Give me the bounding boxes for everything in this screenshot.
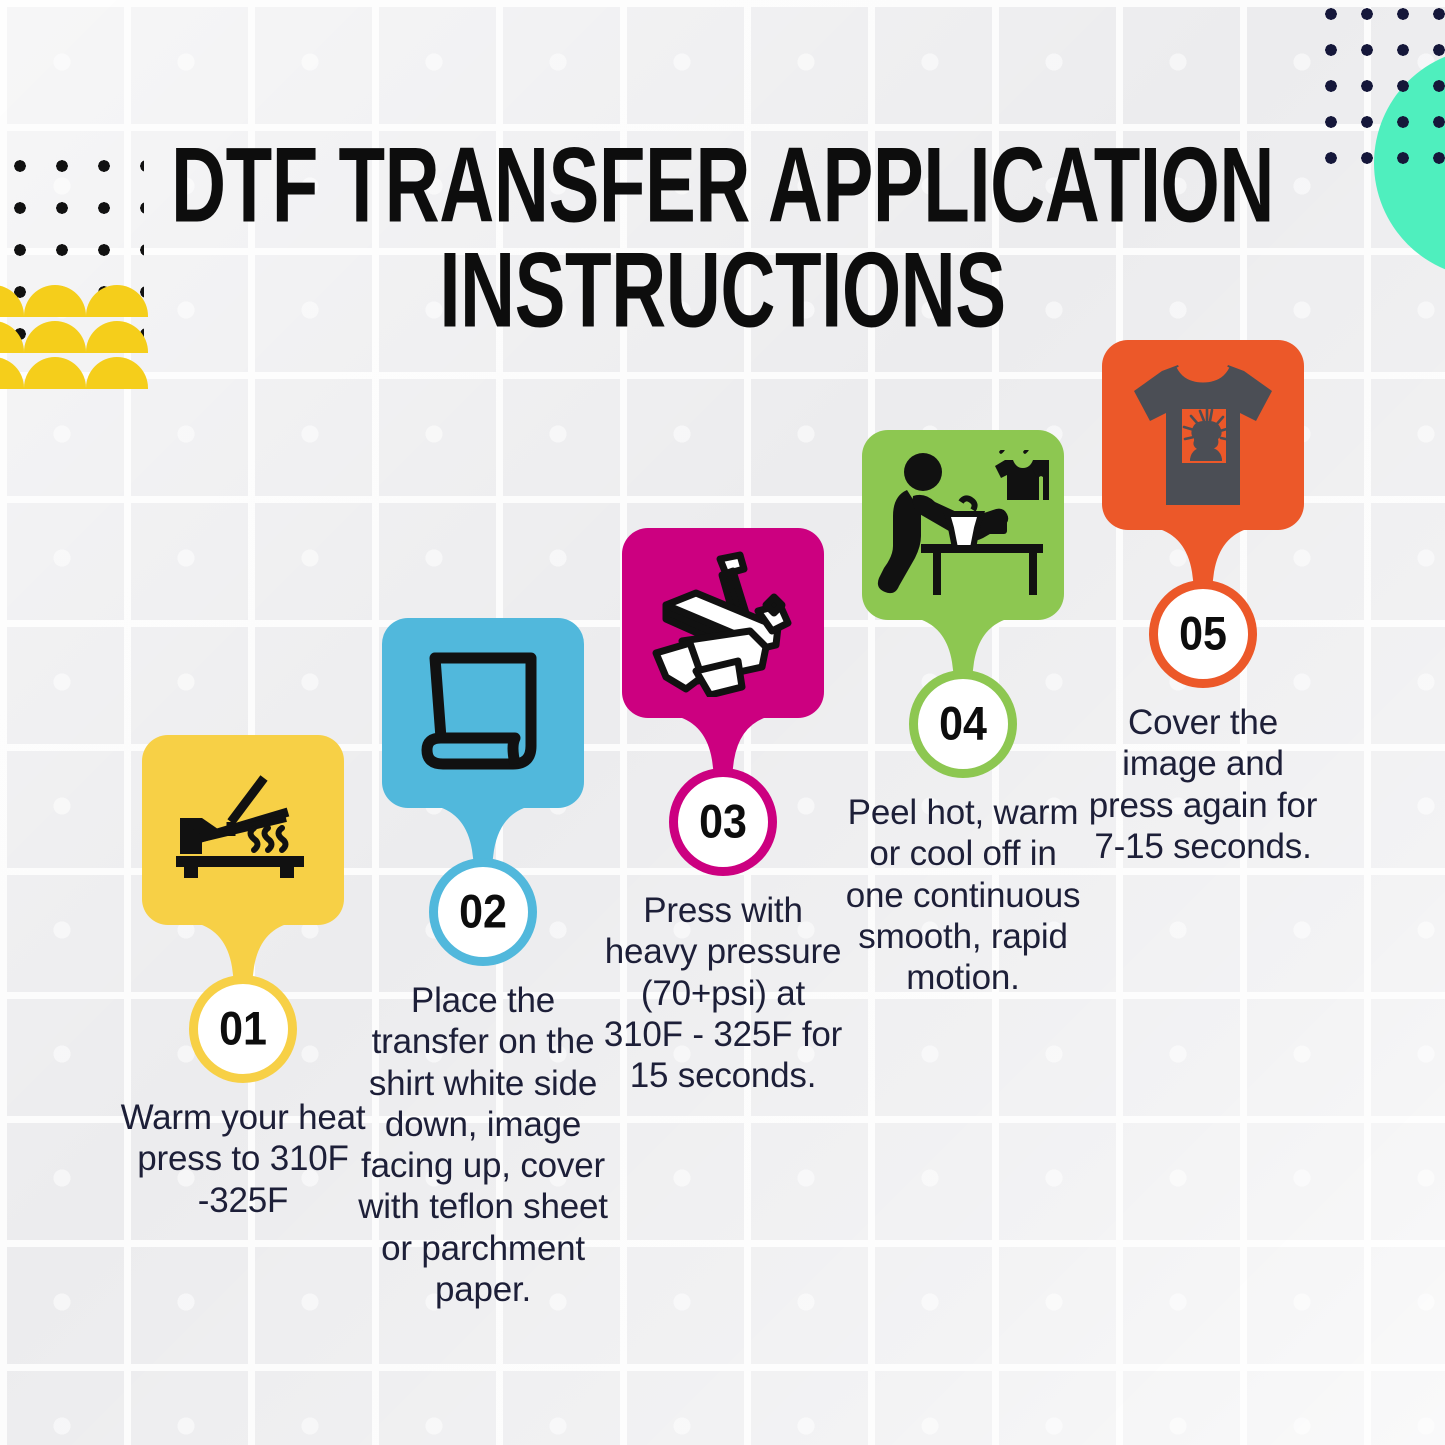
step-caption: Place the transfer on the shirt white si… [358, 980, 608, 1310]
heat-press-closed-icon [638, 549, 808, 697]
step-number-badge[interactable]: 01 [189, 975, 297, 1083]
step-02[interactable]: 02Place the transfer on the shirt white … [358, 618, 608, 1310]
step-icon-card[interactable] [1102, 340, 1304, 530]
steps-container: 01Warm your heat press to 310F -325F 02P… [0, 0, 1445, 1445]
step-caption: Press with heavy pressure (70+psi) at 31… [598, 890, 848, 1096]
step-icon-card[interactable] [142, 735, 344, 925]
step-number-label: 02 [459, 885, 507, 939]
step-caption: Cover the image and press again for 7-15… [1078, 702, 1328, 867]
step-icon-card[interactable] [862, 430, 1064, 620]
step-caption: Peel hot, warm or cool off in one contin… [838, 792, 1088, 998]
step-caption: Warm your heat press to 310F -325F [118, 1097, 368, 1221]
step-01[interactable]: 01Warm your heat press to 310F -325F [118, 735, 368, 1221]
step-number-label: 03 [699, 795, 747, 849]
step-number-label: 01 [219, 1002, 267, 1056]
step-number-label: 04 [939, 697, 987, 751]
step-number-badge[interactable]: 02 [429, 858, 537, 966]
step-number-badge[interactable]: 03 [669, 768, 777, 876]
step-number-badge[interactable]: 04 [909, 670, 1017, 778]
transfer-sheet-icon [419, 650, 547, 776]
step-04[interactable]: 04Peel hot, warm or cool off in one cont… [838, 430, 1088, 998]
step-number-label: 05 [1179, 607, 1227, 661]
heat-press-open-icon [168, 770, 318, 890]
step-icon-card[interactable] [622, 528, 824, 718]
step-number-badge[interactable]: 05 [1149, 580, 1257, 688]
step-03[interactable]: 03Press with heavy pressure (70+psi) at … [598, 528, 848, 1096]
step-icon-card[interactable] [382, 618, 584, 808]
peel-transfer-person-icon [877, 450, 1049, 600]
step-05[interactable]: 05Cover the image and press again for 7-… [1078, 340, 1328, 867]
printed-tshirt-icon [1128, 359, 1278, 511]
